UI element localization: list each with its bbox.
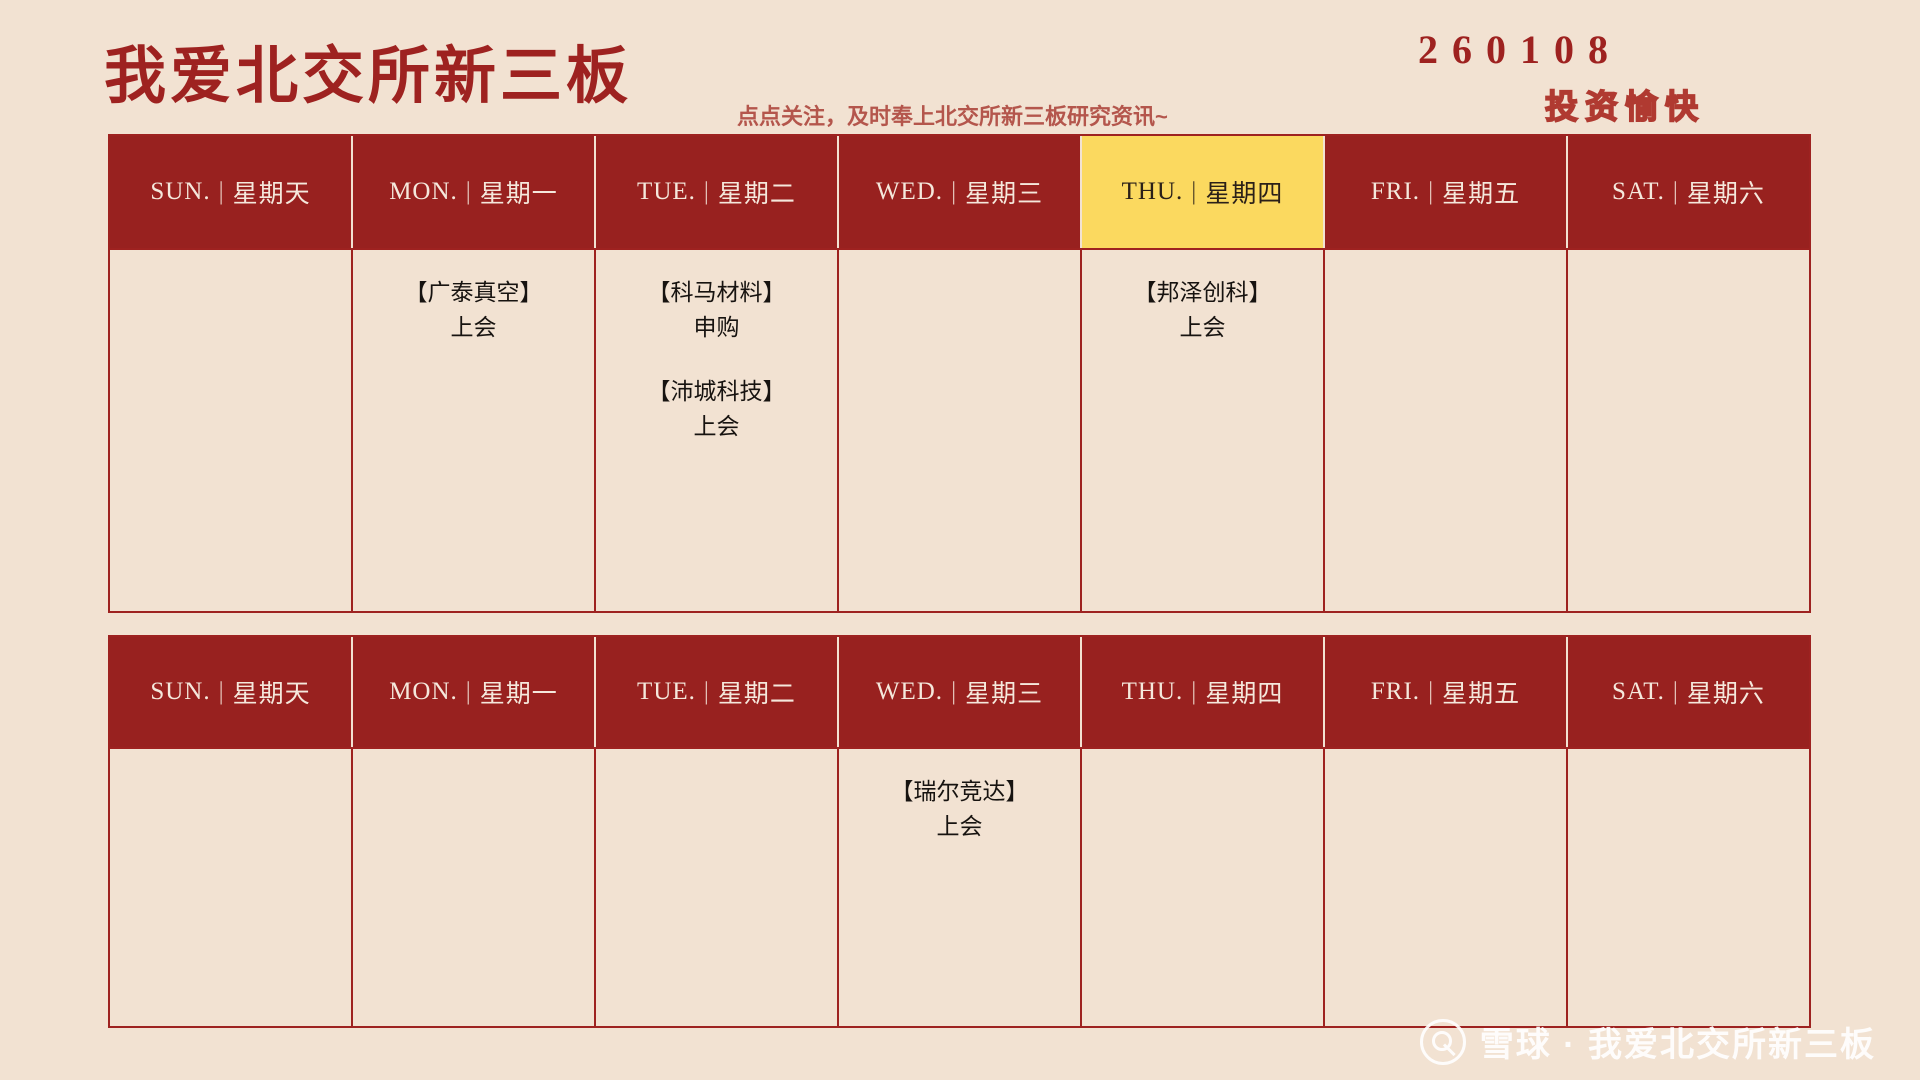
page-title: 我爱北交所新三板 [104,46,632,108]
day-header-fri[interactable]: FRI.|星期五 [1325,637,1568,747]
calendar-event[interactable]: 【科马材料】申购 [648,276,786,345]
day-header-abbr: MON. [389,678,458,706]
calendar-week-2: SUN.|星期天MON.|星期一TUE.|星期二WED.|星期三THU.|星期四… [108,635,1811,1028]
day-header-abbr: SAT. [1612,678,1665,706]
day-header-cn: 星期四 [1205,174,1283,210]
day-header-abbr: WED. [876,678,943,706]
day-header-separator-icon: | [951,178,957,206]
day-header-cn: 星期三 [965,174,1043,210]
day-header-thu[interactable]: THU.|星期四 [1082,136,1325,248]
calendar-event[interactable]: 【沛城科技】上会 [648,375,786,444]
day-header-cn: 星期二 [718,674,796,710]
day-header-abbr: MON. [389,178,458,206]
day-header-cn: 星期二 [718,174,796,210]
day-header-separator-icon: | [704,178,710,206]
day-cell-wed[interactable]: 【瑞尔竞达】上会 [839,749,1082,1026]
day-header-cn: 星期六 [1687,674,1765,710]
calendar-body-row: 【广泰真空】上会【科马材料】申购【沛城科技】上会【邦泽创科】上会 [110,248,1809,611]
day-header-separator-icon: | [1191,178,1197,206]
day-cell-thu[interactable] [1082,749,1325,1026]
day-cell-mon[interactable]: 【广泰真空】上会 [353,250,596,611]
date-code: 260108 [1418,26,1622,73]
day-header-cn: 星期五 [1442,674,1520,710]
day-header-separator-icon: | [1428,678,1434,706]
day-cell-mon[interactable] [353,749,596,1026]
day-header-abbr: SAT. [1612,178,1665,206]
day-header-separator-icon: | [1673,678,1679,706]
event-action: 申购 [648,311,786,346]
day-header-tue[interactable]: TUE.|星期二 [596,637,839,747]
day-header-separator-icon: | [1673,178,1679,206]
day-cell-fri[interactable] [1325,250,1568,611]
day-cell-sat[interactable] [1568,749,1809,1026]
event-action: 上会 [405,311,543,346]
day-header-mon[interactable]: MON.|星期一 [353,136,596,248]
event-company-name: 【邦泽创科】 [1134,276,1272,311]
day-header-sat[interactable]: SAT.|星期六 [1568,637,1809,747]
day-header-separator-icon: | [951,678,957,706]
day-header-cn: 星期一 [480,674,558,710]
calendar-header-row: SUN.|星期天MON.|星期一TUE.|星期二WED.|星期三THU.|星期四… [110,136,1809,248]
day-cell-sun[interactable] [110,250,353,611]
day-header-cn: 星期四 [1205,674,1283,710]
day-header-separator-icon: | [704,678,710,706]
day-cell-tue[interactable]: 【科马材料】申购【沛城科技】上会 [596,250,839,611]
day-header-abbr: FRI. [1371,678,1420,706]
day-header-abbr: SUN. [150,178,210,206]
day-cell-wed[interactable] [839,250,1082,611]
day-cell-tue[interactable] [596,749,839,1026]
day-header-abbr: TUE. [637,678,696,706]
watermark-label: 雪球 · 我爱北交所新三板 [1480,1017,1876,1066]
day-header-separator-icon: | [219,678,225,706]
day-header-abbr: SUN. [150,678,210,706]
day-header-abbr: TUE. [637,178,696,206]
calendar-week-1: SUN.|星期天MON.|星期一TUE.|星期二WED.|星期三THU.|星期四… [108,134,1811,613]
day-cell-thu[interactable]: 【邦泽创科】上会 [1082,250,1325,611]
calendar-event[interactable]: 【邦泽创科】上会 [1134,276,1272,345]
day-header-tue[interactable]: TUE.|星期二 [596,136,839,248]
day-header-separator-icon: | [1191,678,1197,706]
day-header-sun[interactable]: SUN.|星期天 [110,637,353,747]
page-subtitle: 点点关注，及时奉上北交所新三板研究资讯~ [737,99,1168,131]
event-action: 上会 [648,410,786,445]
day-header-cn: 星期天 [233,674,311,710]
day-header-separator-icon: | [219,178,225,206]
day-header-cn: 星期三 [965,674,1043,710]
wish-text: 投资愉快 [1545,80,1705,128]
event-company-name: 【沛城科技】 [648,375,786,410]
day-header-abbr: THU. [1122,678,1184,706]
day-header-cn: 星期天 [233,174,311,210]
event-action: 上会 [1134,311,1272,346]
day-header-sun[interactable]: SUN.|星期天 [110,136,353,248]
calendar-header-row: SUN.|星期天MON.|星期一TUE.|星期二WED.|星期三THU.|星期四… [110,637,1809,747]
day-cell-sat[interactable] [1568,250,1809,611]
calendar-event[interactable]: 【广泰真空】上会 [405,276,543,345]
event-action: 上会 [891,810,1029,845]
day-header-abbr: THU. [1122,178,1184,206]
day-header-mon[interactable]: MON.|星期一 [353,637,596,747]
watermark: 雪球 · 我爱北交所新三板 [1420,1017,1876,1066]
day-header-wed[interactable]: WED.|星期三 [839,637,1082,747]
day-header-cn: 星期五 [1442,174,1520,210]
day-header-thu[interactable]: THU.|星期四 [1082,637,1325,747]
day-header-cn: 星期一 [480,174,558,210]
day-header-wed[interactable]: WED.|星期三 [839,136,1082,248]
day-header-separator-icon: | [466,178,472,206]
page-header: 我爱北交所新三板 点点关注，及时奉上北交所新三板研究资讯~ 260108 投资愉… [0,0,1920,132]
calendar-body-row: 【瑞尔竞达】上会 [110,747,1809,1026]
day-header-separator-icon: | [1428,178,1434,206]
day-header-sat[interactable]: SAT.|星期六 [1568,136,1809,248]
day-header-cn: 星期六 [1687,174,1765,210]
event-company-name: 【瑞尔竞达】 [891,775,1029,810]
day-cell-sun[interactable] [110,749,353,1026]
day-header-abbr: WED. [876,178,943,206]
xueqiu-logo-icon [1420,1019,1466,1065]
event-company-name: 【科马材料】 [648,276,786,311]
event-company-name: 【广泰真空】 [405,276,543,311]
calendar-event[interactable]: 【瑞尔竞达】上会 [891,775,1029,844]
day-header-fri[interactable]: FRI.|星期五 [1325,136,1568,248]
day-cell-fri[interactable] [1325,749,1568,1026]
day-header-abbr: FRI. [1371,178,1420,206]
day-header-separator-icon: | [466,678,472,706]
